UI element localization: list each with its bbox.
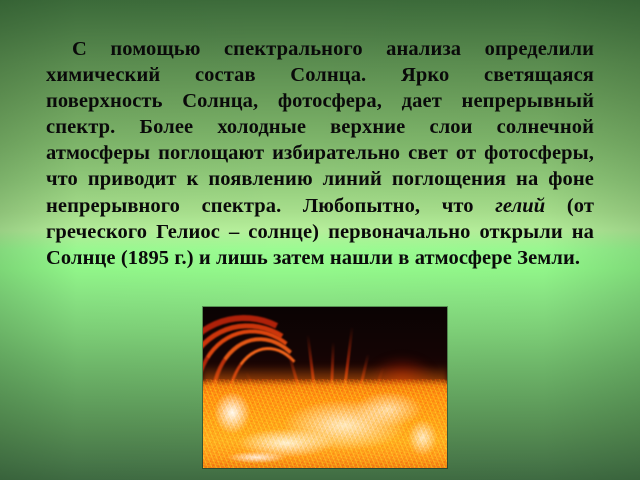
paragraph-segment-1: С помощью спектрального анализа определи… — [46, 38, 594, 217]
emphasized-term-geliy: гелий — [495, 195, 545, 217]
presentation-slide: С помощью спектрального анализа определи… — [0, 0, 640, 480]
solar-photosphere-image — [203, 307, 447, 468]
granulation-texture — [203, 379, 447, 468]
slide-body-text: С помощью спектрального анализа определи… — [46, 36, 594, 271]
photosphere-layer — [203, 379, 447, 468]
